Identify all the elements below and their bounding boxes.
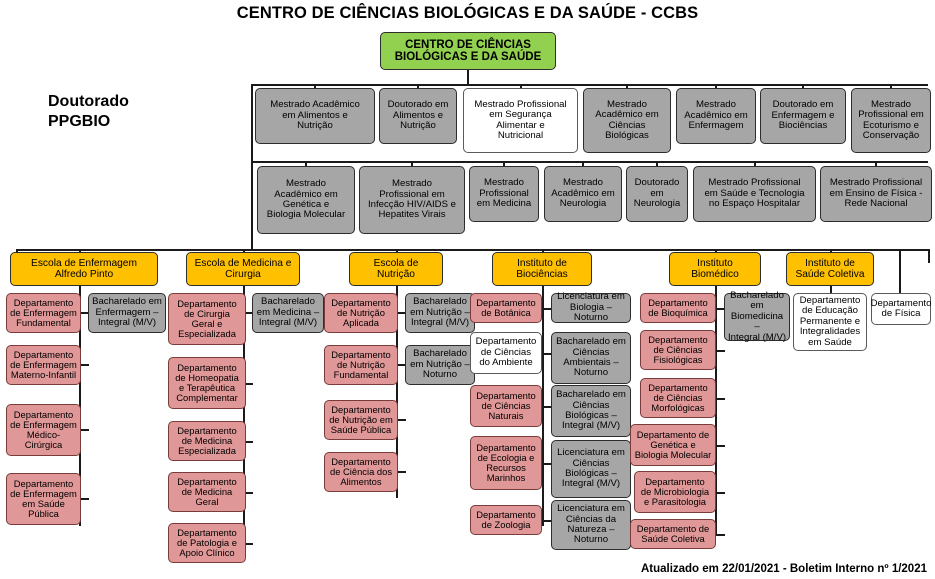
- department-node[interactable]: Departamento de Ciência dos Alimentos: [324, 452, 398, 492]
- root-node-ccbs[interactable]: CENTRO DE CIÊNCIAS BIOLÓGICAS E DA SAÚDE: [380, 32, 556, 70]
- program-node[interactable]: Mestrado Profissional em Segurança Alime…: [463, 88, 578, 153]
- unit-node-instituto-biomedico[interactable]: Instituto Biomédico: [669, 252, 761, 286]
- program-node[interactable]: Mestrado Profissional em Ecoturismo e Co…: [851, 88, 931, 153]
- department-node[interactable]: Departamento de Enfermagem Materno-Infan…: [6, 345, 81, 385]
- department-node[interactable]: Departamento de Zoologia: [470, 505, 542, 535]
- unit-node-escola-nutricao[interactable]: Escola de Nutrição: [349, 252, 443, 286]
- department-node[interactable]: Departamento de Bioquímica: [640, 293, 716, 323]
- department-node[interactable]: Departamento de Medicina Especializada: [168, 421, 246, 461]
- program-node[interactable]: Mestrado Profissional em Medicina: [469, 166, 539, 222]
- course-node[interactable]: Bacharelado em Enfermagem – Integral (M/…: [88, 293, 166, 333]
- department-node[interactable]: Departamento de Medicina Geral: [168, 472, 246, 512]
- footer-note: Atualizado em 22/01/2021 - Boletim Inter…: [641, 563, 927, 575]
- program-node[interactable]: Doutorado em Neurologia: [626, 166, 688, 222]
- department-node[interactable]: Departamento de Educação Permanente e In…: [793, 293, 867, 351]
- department-node[interactable]: Departamento de Cirurgia Geral e Especia…: [168, 293, 246, 345]
- department-node[interactable]: Departamento de Ciências Fisiológicas: [640, 330, 716, 370]
- program-node[interactable]: Mestrado Profissional em Ensino de Físic…: [820, 166, 932, 222]
- program-node[interactable]: Mestrado Profissional em Saúde e Tecnolo…: [693, 166, 816, 222]
- program-node[interactable]: Mestrado Acadêmico em Ciências Biológica…: [583, 88, 671, 153]
- department-node[interactable]: Departamento de Microbiologia e Parasito…: [634, 471, 716, 513]
- course-node[interactable]: Bacharelado em Ciências Biológicas – Int…: [551, 385, 631, 437]
- ppgbio-label: Doutorado PPGBIO: [48, 92, 129, 132]
- course-node[interactable]: Licenciatura em Ciências da Natureza – N…: [551, 500, 631, 550]
- program-node[interactable]: Mestrado Profissional em Infecção HIV/AI…: [359, 166, 465, 234]
- department-node[interactable]: Departamento de Nutrição em Saúde Públic…: [324, 400, 398, 440]
- department-node[interactable]: Departamento de Ecologia e Recursos Mari…: [470, 436, 542, 490]
- department-node[interactable]: Departamento de Física: [871, 293, 931, 325]
- program-node[interactable]: Doutorado em Enfermagem e Biociências: [760, 88, 846, 144]
- department-node[interactable]: Departamento de Ciências Morfológicas: [640, 378, 716, 418]
- program-node[interactable]: Doutorado em Alimentos e Nutrição: [379, 88, 457, 144]
- course-node[interactable]: Bacharelado em Medicina – Integral (M/V): [252, 293, 324, 333]
- course-node[interactable]: Bacharelado em Nutrição – Noturno: [405, 345, 475, 385]
- department-node[interactable]: Departamento de Botânica: [470, 293, 542, 323]
- department-node[interactable]: Departamento de Enfermagem em Saúde Públ…: [6, 473, 81, 525]
- program-node[interactable]: Mestrado Acadêmico em Genética e Biologi…: [257, 166, 355, 234]
- course-node[interactable]: Bacharelado em Nutrição – Integral (M/V): [405, 293, 475, 333]
- program-node[interactable]: Mestrado Acadêmico em Enfermagem: [676, 88, 756, 144]
- department-node[interactable]: Departamento de Saúde Coletiva: [630, 519, 716, 549]
- program-node[interactable]: Mestrado Acadêmico em Neurologia: [544, 166, 622, 222]
- page-title: CENTRO DE CIÊNCIAS BIOLÓGICAS E DA SAÚDE…: [0, 4, 935, 23]
- course-node[interactable]: Bacharelado em Ciências Ambientais – Not…: [551, 332, 631, 384]
- department-node[interactable]: Departamento de Nutrição Aplicada: [324, 293, 398, 333]
- department-node[interactable]: Departamento de Genética e Biologia Mole…: [630, 424, 716, 466]
- program-node[interactable]: Mestrado Acadêmico em Alimentos e Nutriç…: [255, 88, 375, 144]
- department-node[interactable]: Departamento de Patologia e Apoio Clínic…: [168, 523, 246, 563]
- unit-node-escola-enfermagem[interactable]: Escola de Enfermagem Alfredo Pinto: [10, 252, 158, 286]
- department-node[interactable]: Departamento de Enfermagem Médico- Cirúr…: [6, 404, 81, 456]
- department-node[interactable]: Departamento de Homeopatia e Terapêutica…: [168, 357, 246, 409]
- course-node[interactable]: Licenciatura em Ciências Biológicas – In…: [551, 440, 631, 498]
- unit-node-escola-medicina[interactable]: Escola de Medicina e Cirurgia: [186, 252, 300, 286]
- department-node[interactable]: Departamento de Ciências do Ambiente: [470, 332, 542, 374]
- course-node[interactable]: Licenciatura em Biologia – Noturno: [551, 293, 631, 323]
- department-node[interactable]: Departamento de Nutrição Fundamental: [324, 345, 398, 385]
- department-node[interactable]: Departamento de Ciências Naturais: [470, 385, 542, 427]
- unit-node-instituto-saude-coletiva[interactable]: Instituto de Saúde Coletiva: [786, 252, 874, 286]
- course-node[interactable]: Bacharelado em Biomedicina – Integral (M…: [724, 293, 790, 341]
- department-node[interactable]: Departamento de Enfermagem Fundamental: [6, 293, 81, 333]
- unit-node-instituto-biociencias[interactable]: Instituto de Biociências: [492, 252, 592, 286]
